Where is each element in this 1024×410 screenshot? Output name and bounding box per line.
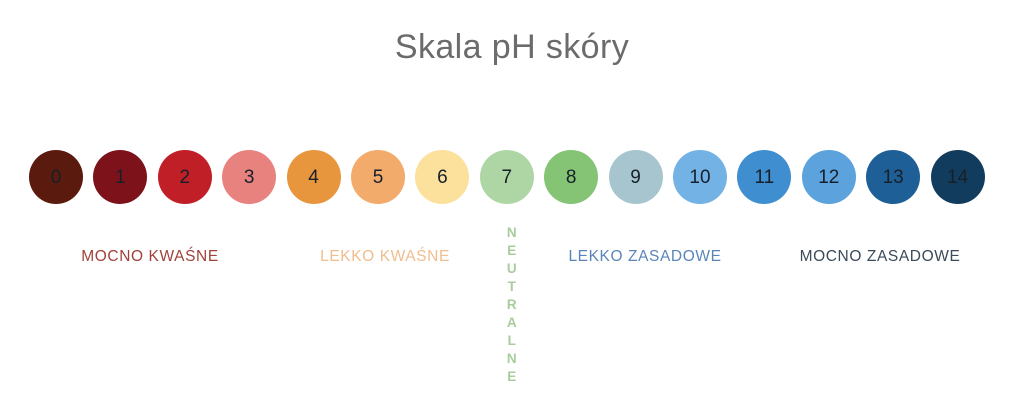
ph-value-label: 11 [755, 168, 775, 187]
ph-value-label: 13 [883, 168, 904, 187]
ph-circle-8: 8 [544, 150, 598, 204]
category-label-letter: U [507, 260, 517, 278]
ph-value-label: 1 [115, 168, 126, 187]
ph-circle-0: 0 [29, 150, 83, 204]
category-label-neutral: NEUTRALNE [507, 224, 517, 386]
ph-circle-9: 9 [609, 150, 663, 204]
category-label-letter: A [507, 314, 517, 332]
ph-value-label: 7 [502, 168, 513, 187]
category-label-1: LEKKO KWAŚNE [320, 248, 450, 266]
category-label-letter: L [508, 332, 517, 350]
ph-value-label: 2 [180, 168, 191, 187]
ph-circle-4: 4 [287, 150, 341, 204]
ph-circle-5: 5 [351, 150, 405, 204]
ph-circle-10: 10 [673, 150, 727, 204]
category-label-letter: R [507, 296, 517, 314]
category-label-4: MOCNO ZASADOWE [800, 248, 961, 266]
ph-value-label: 4 [308, 168, 319, 187]
category-label-letter: E [507, 368, 517, 386]
ph-circle-14: 14 [931, 150, 985, 204]
ph-value-label: 5 [373, 168, 384, 187]
ph-value-label: 3 [244, 168, 255, 187]
ph-circle-6: 6 [415, 150, 469, 204]
ph-circle-13: 13 [866, 150, 920, 204]
category-label-3: LEKKO ZASADOWE [568, 248, 721, 266]
ph-circle-12: 12 [802, 150, 856, 204]
category-label-letter: N [507, 224, 517, 242]
ph-value-label: 9 [630, 168, 641, 187]
ph-circle-7: 7 [480, 150, 534, 204]
category-label-letter: E [507, 242, 517, 260]
ph-circle-11: 11 [737, 150, 791, 204]
ph-scale-infographic: Skala pH skóry 01234567891011121314 MOCN… [0, 0, 1024, 410]
ph-scale-row: 01234567891011121314 [29, 150, 995, 208]
ph-value-label: 14 [947, 168, 968, 187]
ph-value-label: 6 [437, 168, 448, 187]
ph-value-label: 12 [818, 168, 839, 187]
ph-circle-2: 2 [158, 150, 212, 204]
page-title: Skala pH skóry [0, 28, 1024, 67]
category-label-letter: N [507, 350, 517, 368]
ph-value-label: 8 [566, 168, 577, 187]
category-label-letter: T [508, 278, 517, 296]
ph-circle-1: 1 [93, 150, 147, 204]
ph-value-label: 0 [51, 168, 62, 187]
category-label-0: MOCNO KWAŚNE [81, 248, 219, 266]
ph-circle-3: 3 [222, 150, 276, 204]
ph-value-label: 10 [689, 168, 710, 187]
